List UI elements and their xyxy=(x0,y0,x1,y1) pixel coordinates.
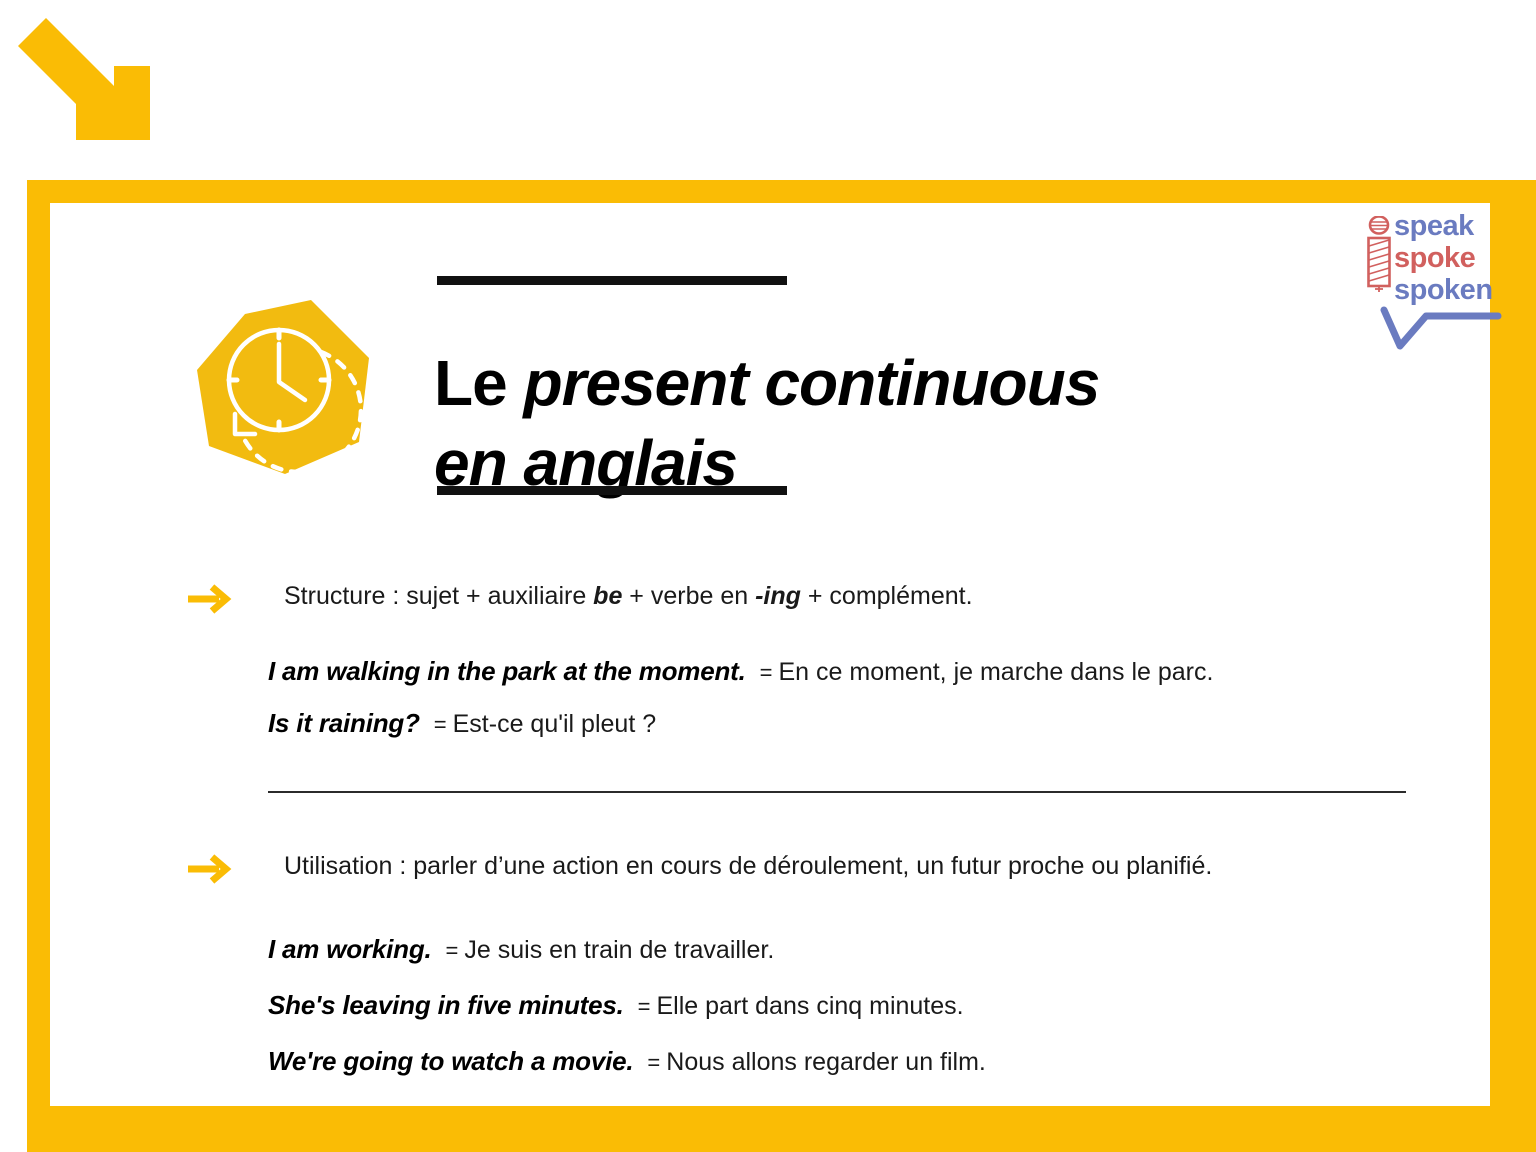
example-french: Nous allons regarder un film. xyxy=(666,1048,986,1076)
example-row: Is it raining?=Est-ce qu'il pleut ? xyxy=(268,706,656,745)
section-2-heading-row: Utilisation : parler d’une action en cou… xyxy=(186,850,1212,886)
example-row: We're going to watch a movie.=Nous allon… xyxy=(268,1044,986,1083)
example-row: She's leaving in five minutes.=Elle part… xyxy=(268,988,964,1027)
example-row: I am walking in the park at the moment.=… xyxy=(268,654,1213,693)
example-equals: = xyxy=(432,938,465,963)
logo-word-speak: speak xyxy=(1394,210,1504,242)
example-french: Elle part dans cinq minutes. xyxy=(657,992,964,1020)
page-title: Le present continuous en anglais xyxy=(434,343,1334,503)
example-french: Je suis en train de travailler. xyxy=(464,936,774,964)
horizontal-divider xyxy=(268,791,1406,793)
page-title-emphasis: present continuous xyxy=(523,347,1099,419)
check-swoosh-icon xyxy=(1378,306,1502,354)
title-rule-bottom xyxy=(437,486,787,495)
example-equals: = xyxy=(633,1050,666,1075)
clock-icon xyxy=(193,296,373,476)
example-equals: = xyxy=(420,712,453,737)
section-1-heading-bold1: be xyxy=(593,582,622,610)
logo-word-spoke: spoke xyxy=(1394,242,1504,274)
page-title-prefix: Le xyxy=(434,347,523,419)
example-row: I am working.=Je suis en train de travai… xyxy=(268,932,774,971)
example-english: She's leaving in five minutes. xyxy=(268,990,624,1020)
example-english: Is it raining? xyxy=(268,708,420,738)
example-equals: = xyxy=(624,994,657,1019)
section-2-heading: Utilisation : parler d’une action en cou… xyxy=(284,850,1212,882)
example-english: I am walking in the park at the moment. xyxy=(268,656,746,686)
section-1-heading-part1: Structure : sujet + auxiliaire xyxy=(284,582,593,610)
example-french: En ce moment, je marche dans le parc. xyxy=(779,658,1214,686)
pencil-icon xyxy=(1362,216,1396,294)
section-1-heading-part2: + verbe en xyxy=(622,582,755,610)
brand-logo[interactable]: speak spoke spoken xyxy=(1362,210,1502,358)
content-canvas: speak spoke spoken Le present continuous… xyxy=(0,0,1536,1152)
section-1-heading-bold2: -ing xyxy=(755,582,801,610)
arrow-right-icon xyxy=(186,852,232,886)
section-1-heading: Structure : sujet + auxiliaire be + verb… xyxy=(284,580,973,612)
example-english: I am working. xyxy=(268,934,432,964)
section-1-heading-part3: + complément. xyxy=(801,582,973,610)
logo-word-spoken: spoken xyxy=(1394,274,1504,306)
logo-wordmark: speak spoke spoken xyxy=(1394,210,1504,306)
title-rule-top xyxy=(437,276,787,285)
example-english: We're going to watch a movie. xyxy=(268,1046,633,1076)
example-equals: = xyxy=(746,660,779,685)
example-french: Est-ce qu'il pleut ? xyxy=(453,710,657,738)
arrow-right-icon xyxy=(186,582,232,616)
section-1-heading-row: Structure : sujet + auxiliaire be + verb… xyxy=(186,580,973,616)
